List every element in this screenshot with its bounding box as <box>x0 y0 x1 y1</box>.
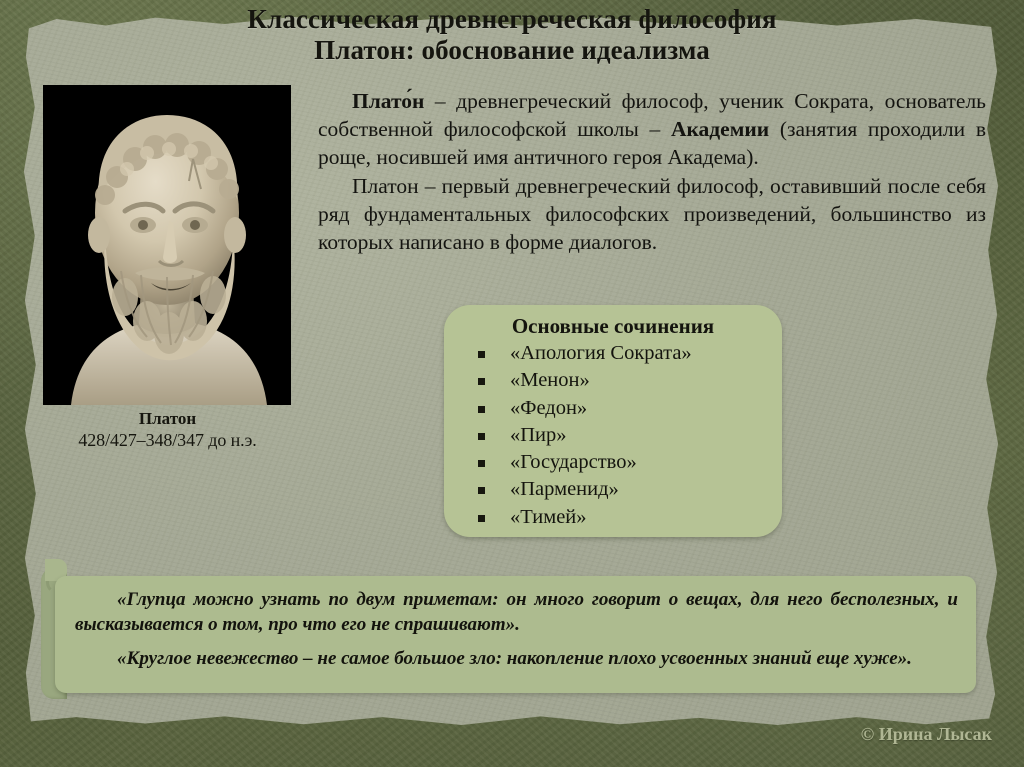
square-bullet-icon <box>478 433 485 440</box>
square-bullet-icon <box>478 460 485 467</box>
square-bullet-icon <box>478 406 485 413</box>
slide-canvas: Классическая древнегреческая философия П… <box>0 0 1024 767</box>
portrait-block <box>43 85 291 405</box>
list-item-label: «Апология Сократа» <box>510 342 692 364</box>
works-panel: Основные сочинения «Апология Сократа» «М… <box>444 305 782 537</box>
quote-1: «Глупца можно узнать по двум приметам: о… <box>75 588 958 638</box>
caption-dates: 428/427–348/347 до н.э. <box>35 429 300 452</box>
list-item-label: «Пир» <box>510 424 567 446</box>
portrait-caption: Платон 428/427–348/347 до н.э. <box>35 408 300 452</box>
quote-text-area: «Глупца можно узнать по двум приметам: о… <box>55 576 976 693</box>
list-item-label: «Парменид» <box>510 478 619 500</box>
caption-name: Платон <box>35 408 300 429</box>
list-item: «Менон» <box>472 367 772 394</box>
list-item: «Парменид» <box>472 476 772 503</box>
list-item-label: «Менон» <box>510 369 590 391</box>
works-panel-title: Основные сочинения <box>454 314 772 339</box>
square-bullet-icon <box>478 515 485 522</box>
copyright-label: © Ирина Лысак <box>861 724 992 745</box>
list-item-label: «Федон» <box>510 397 587 419</box>
list-item: «Апология Сократа» <box>472 340 772 367</box>
page-title: Классическая древнегреческая философия П… <box>0 4 1024 67</box>
square-bullet-icon <box>478 487 485 494</box>
plato-bust-photo <box>43 85 291 405</box>
title-line-1: Классическая древнегреческая философия <box>247 4 776 34</box>
lead-term-academy: Академии <box>671 117 769 141</box>
square-bullet-icon <box>478 351 485 358</box>
quote-scroll-panel: «Глупца можно узнать по двум приметам: о… <box>41 568 976 699</box>
title-line-2: Платон: обоснование идеализма <box>0 35 1024 66</box>
list-item: «Пир» <box>472 422 772 449</box>
body-text-block: Плато́н – древнегреческий философ, учени… <box>318 88 986 258</box>
body-paragraph-1: Плато́н – древнегреческий философ, учени… <box>318 88 986 172</box>
lead-term-platon: Плато́н <box>352 89 424 113</box>
list-item-label: «Тимей» <box>510 506 587 528</box>
list-item: «Федон» <box>472 395 772 422</box>
body-paragraph-2: Платон – первый древнегреческий философ,… <box>318 173 986 257</box>
quote-2: «Круглое невежество – не самое большое з… <box>75 647 958 672</box>
list-item: «Тимей» <box>472 504 772 531</box>
plato-bust-icon <box>43 85 291 405</box>
square-bullet-icon <box>478 378 485 385</box>
list-item: «Государство» <box>472 449 772 476</box>
works-list: «Апология Сократа» «Менон» «Федон» «Пир»… <box>454 340 772 531</box>
list-item-label: «Государство» <box>510 451 637 473</box>
